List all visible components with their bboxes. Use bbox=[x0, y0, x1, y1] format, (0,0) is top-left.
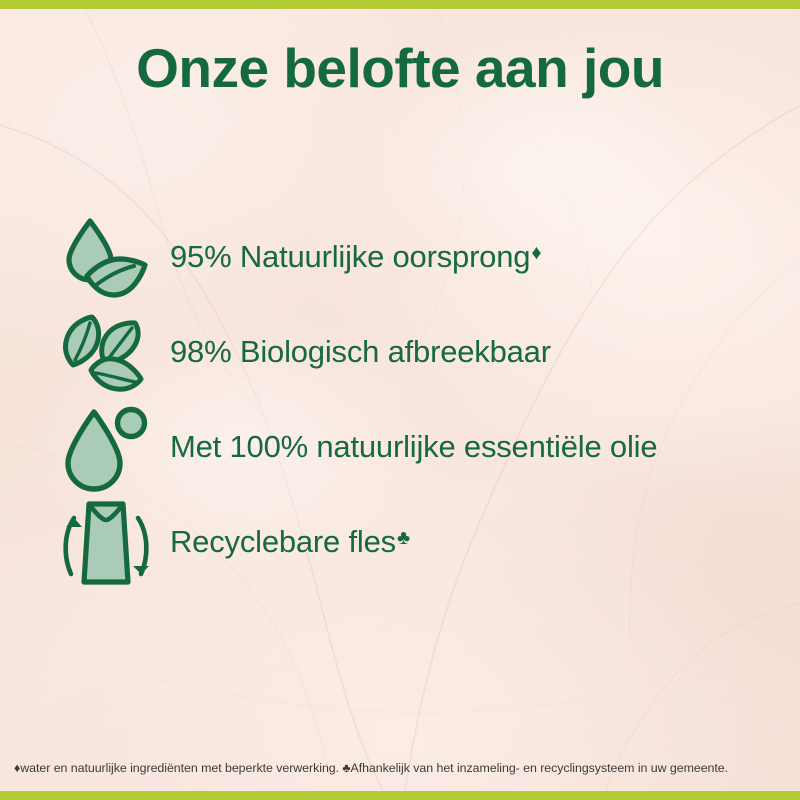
top-accent-bar bbox=[0, 0, 800, 9]
promise-item-essential-oil: Met 100% natuurlijke essentiële olie bbox=[58, 400, 788, 495]
poster-content: Onze belofte aan jou 95% Natuurlijke oor… bbox=[0, 0, 800, 800]
bottom-accent-bar bbox=[0, 791, 800, 800]
droplet-dot-icon bbox=[58, 400, 154, 495]
droplet-leaf-icon bbox=[58, 210, 154, 305]
promise-item-biodegradable: 98% Biologisch afbreekbaar bbox=[58, 305, 788, 400]
page-title: Onze belofte aan jou bbox=[0, 40, 800, 98]
promise-label: Met 100% natuurlijke essentiële olie bbox=[170, 430, 658, 464]
promise-item-recyclable-bottle: Recyclebare fles♣ bbox=[58, 495, 788, 590]
three-leaves-biodegradable-icon bbox=[58, 305, 154, 400]
promise-poster: Onze belofte aan jou 95% Natuurlijke oor… bbox=[0, 0, 800, 800]
promise-label: 98% Biologisch afbreekbaar bbox=[170, 335, 552, 369]
footnote-marker-diamond: ♦ bbox=[531, 242, 541, 264]
footnote-text: ♦water en natuurlijke ingrediënten met b… bbox=[14, 760, 789, 778]
promise-list: 95% Natuurlijke oorsprong♦ bbox=[58, 210, 788, 590]
promise-label: 95% Natuurlijke oorsprong♦ bbox=[170, 240, 541, 274]
promise-label: Recyclebare fles♣ bbox=[170, 525, 410, 559]
recyclable-bottle-icon bbox=[58, 495, 154, 590]
promise-item-natural-origin: 95% Natuurlijke oorsprong♦ bbox=[58, 210, 788, 305]
footnote-marker-club: ♣ bbox=[397, 527, 410, 549]
